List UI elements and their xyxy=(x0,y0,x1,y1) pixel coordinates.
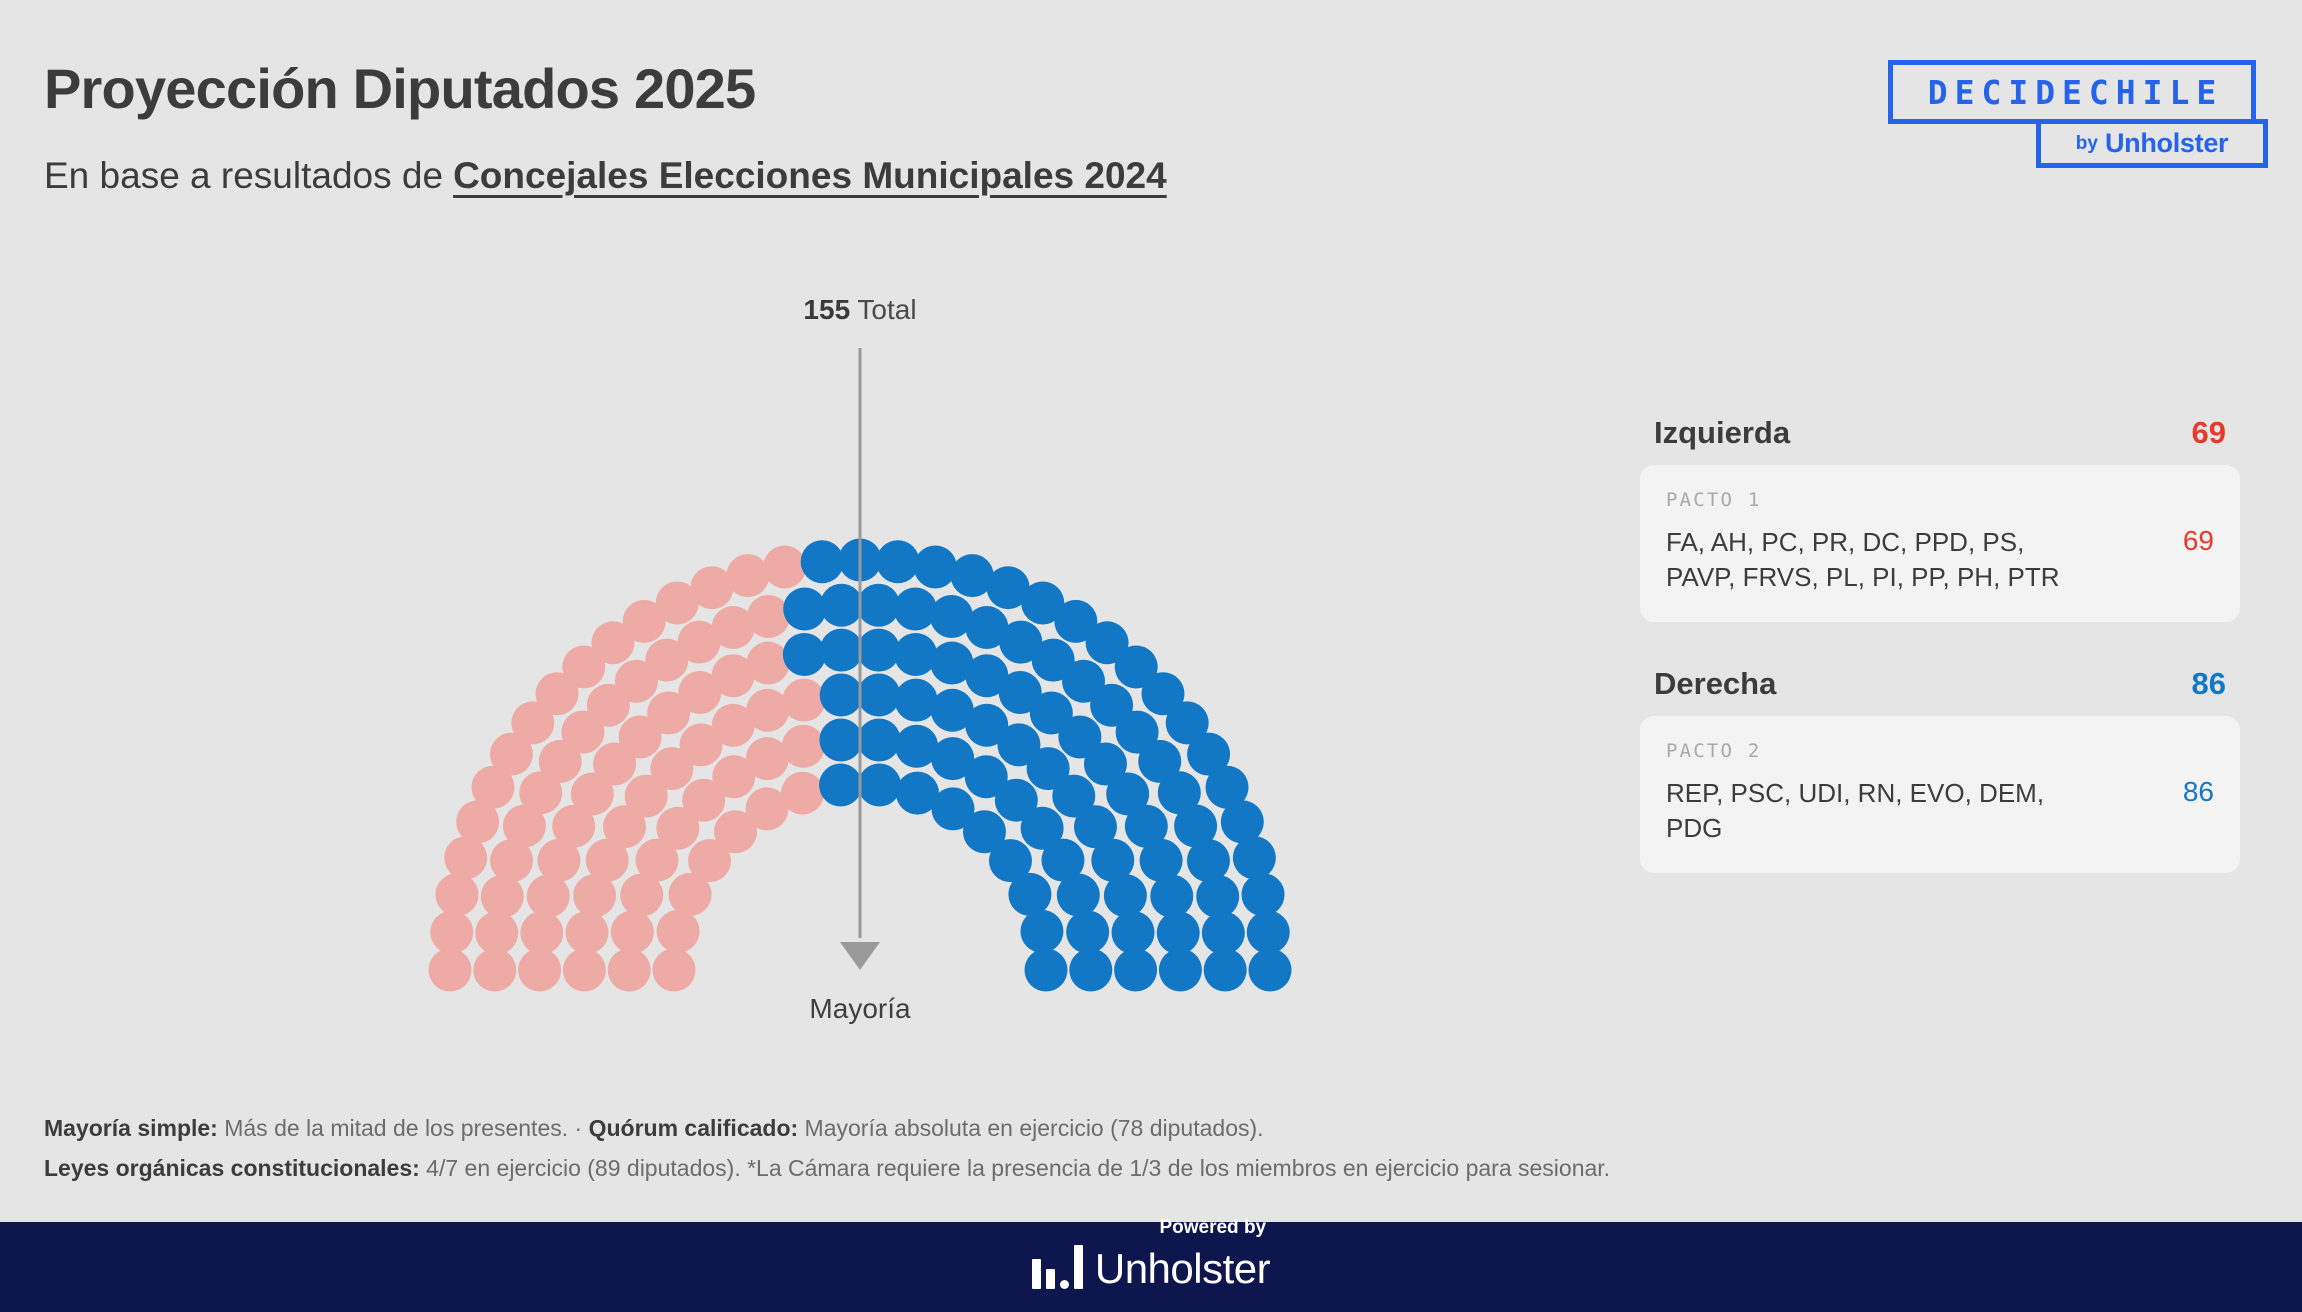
seat-circle xyxy=(857,674,900,717)
seat-circle xyxy=(473,949,516,992)
pact-tag-1: PACTO 1 xyxy=(1666,489,2165,511)
brand-name-unholster: Unholster xyxy=(2105,128,2228,159)
seat-circle xyxy=(1020,910,1063,953)
seat-circle xyxy=(820,584,863,627)
footnote-term-quorum: Quórum calificado: xyxy=(589,1115,799,1141)
seat-circle xyxy=(820,674,863,717)
pact-card-1-content: PACTO 1 FA, AH, PC, PR, DC, PPD, PS, PAV… xyxy=(1666,489,2165,594)
seat-circle xyxy=(781,772,824,815)
bar-chart-icon xyxy=(1032,1245,1083,1289)
pact-card-1[interactable]: PACTO 1 FA, AH, PC, PR, DC, PPD, PS, PAV… xyxy=(1640,465,2240,622)
brand-box-primary: DECIDECHILE xyxy=(1888,60,2256,124)
seat-circle xyxy=(857,584,900,627)
seat-circle xyxy=(653,949,696,992)
brand-by-label: by xyxy=(2076,133,2098,155)
seat-circle xyxy=(783,633,826,676)
pact-card-2-content: PACTO 2 REP, PSC, UDI, RN, EVO, DEM, PDG xyxy=(1666,740,2165,845)
seat-circle xyxy=(1249,949,1292,992)
pact-tag-2: PACTO 2 xyxy=(1666,740,2165,762)
seat-circle xyxy=(430,911,473,954)
brand-name-decidechile: DECIDECHILE xyxy=(1921,73,2224,112)
seat-circle xyxy=(1196,875,1239,918)
pact-parties-1: FA, AH, PC, PR, DC, PPD, PS, PAVP, FRVS,… xyxy=(1666,525,2096,594)
brand-box-secondary: by Unholster xyxy=(2036,119,2268,168)
footnotes: Mayoría simple: Más de la mitad de los p… xyxy=(44,1108,2144,1189)
seat-circle xyxy=(876,540,919,583)
seat-circle xyxy=(914,545,957,588)
seat-circle xyxy=(782,725,825,768)
seat-circle xyxy=(1187,839,1230,882)
seat-circle xyxy=(565,911,608,954)
seat-circle xyxy=(1202,912,1245,955)
bloc-total-izquierda: 69 xyxy=(2192,415,2226,451)
footnote-term-mayoria-simple: Mayoría simple: xyxy=(44,1115,218,1141)
footnote-line-2: Leyes orgánicas constitucionales: 4/7 en… xyxy=(44,1148,2144,1188)
page-header: Proyección Diputados 2025 En base a resu… xyxy=(0,0,2302,250)
seat-circle xyxy=(520,911,563,954)
seat-circle xyxy=(1204,949,1247,992)
majority-pointer-arrow-icon xyxy=(840,942,880,970)
bloc-derecha: Derecha 86 PACTO 2 REP, PSC, UDI, RN, EV… xyxy=(1640,666,2240,873)
seat-circle xyxy=(858,718,901,761)
seat-circle xyxy=(747,642,790,685)
subtitle-lead-text: En base a resultados de xyxy=(44,155,443,197)
seat-circle xyxy=(895,679,938,722)
seat-circle xyxy=(1150,875,1193,918)
seat-circle xyxy=(435,873,478,916)
footnote-term-leyes: Leyes orgánicas constitucionales: xyxy=(44,1155,420,1181)
pact-parties-2: REP, PSC, UDI, RN, EVO, DEM, PDG xyxy=(1666,776,2096,845)
seat-circle xyxy=(820,629,863,672)
seat-circle xyxy=(1233,836,1276,879)
bloc-header-izquierda: Izquierda 69 xyxy=(1640,415,2240,451)
seat-circle xyxy=(1069,949,1112,992)
seat-circle xyxy=(857,629,900,672)
bloc-header-derecha: Derecha 86 xyxy=(1640,666,2240,702)
bloc-name-derecha: Derecha xyxy=(1654,666,1776,702)
page-title: Proyección Diputados 2025 xyxy=(44,56,755,121)
pact-card-2[interactable]: PACTO 2 REP, PSC, UDI, RN, EVO, DEM, PDG… xyxy=(1640,716,2240,873)
seat-circle xyxy=(429,949,472,992)
seat-circle xyxy=(783,588,826,631)
decidechile-logo[interactable]: DECIDECHILE by Unholster xyxy=(1888,60,2268,170)
seat-circle xyxy=(894,588,937,631)
seat-circle xyxy=(801,540,844,583)
seat-circle xyxy=(1066,911,1109,954)
majority-label: Mayoría xyxy=(300,993,1420,1025)
seat-circle xyxy=(1112,911,1155,954)
seat-circle xyxy=(782,679,825,722)
seat-circle xyxy=(563,949,606,992)
seat-circle xyxy=(1057,874,1100,917)
seat-circle xyxy=(819,764,862,807)
seat-circle xyxy=(481,875,524,918)
seat-circle xyxy=(763,545,806,588)
unholster-footer-logo[interactable]: Powered by Unholster xyxy=(1032,1245,1270,1289)
seat-circle xyxy=(858,764,901,807)
seat-circle xyxy=(475,912,518,955)
subtitle-source-link[interactable]: Concejales Elecciones Municipales 2024 xyxy=(453,155,1167,197)
bloc-total-derecha: 86 xyxy=(2192,666,2226,702)
seat-circle xyxy=(1247,911,1290,954)
seat-circle xyxy=(1157,911,1200,954)
seat-circle xyxy=(611,911,654,954)
results-side-panel: Izquierda 69 PACTO 1 FA, AH, PC, PR, DC,… xyxy=(1640,415,2240,917)
seat-circle xyxy=(608,949,651,992)
pact-count-2: 86 xyxy=(2183,740,2214,808)
seat-circle xyxy=(657,910,700,953)
powered-by-label: Powered by xyxy=(1159,1217,1266,1239)
seat-diagram-svg xyxy=(300,270,1420,1060)
bloc-izquierda: Izquierda 69 PACTO 1 FA, AH, PC, PR, DC,… xyxy=(1640,415,2240,622)
seat-circle xyxy=(894,633,937,676)
footnote-line-1: Mayoría simple: Más de la mitad de los p… xyxy=(44,1108,2144,1148)
pact-count-1: 69 xyxy=(2183,489,2214,557)
footnote-def-mayoria-simple: Más de la mitad de los presentes. · xyxy=(218,1115,589,1141)
parliament-chart: 155 Total Mayoría xyxy=(300,270,1420,1060)
seat-circle xyxy=(1242,873,1285,916)
unholster-wordmark: Unholster xyxy=(1095,1249,1270,1289)
seat-circle xyxy=(1159,949,1202,992)
page-subtitle: En base a resultados de Concejales Elecc… xyxy=(44,155,1167,197)
seat-circle xyxy=(518,949,561,992)
seat-circle xyxy=(726,554,769,597)
footer-bar: Powered by Unholster xyxy=(0,1222,2302,1312)
seat-circle xyxy=(747,595,790,638)
seat-circle xyxy=(819,718,862,761)
seat-circle xyxy=(746,689,789,732)
seat-circle xyxy=(1114,949,1157,992)
footnote-def-quorum: Mayoría absoluta en ejercicio (78 diputa… xyxy=(798,1115,1263,1141)
seat-circle xyxy=(1008,873,1051,916)
seat-circle xyxy=(1104,874,1147,917)
footnote-def-leyes: 4/7 en ejercicio (89 diputados). *La Cám… xyxy=(420,1155,1610,1181)
seat-circle xyxy=(1025,949,1068,992)
bloc-name-izquierda: Izquierda xyxy=(1654,415,1790,451)
